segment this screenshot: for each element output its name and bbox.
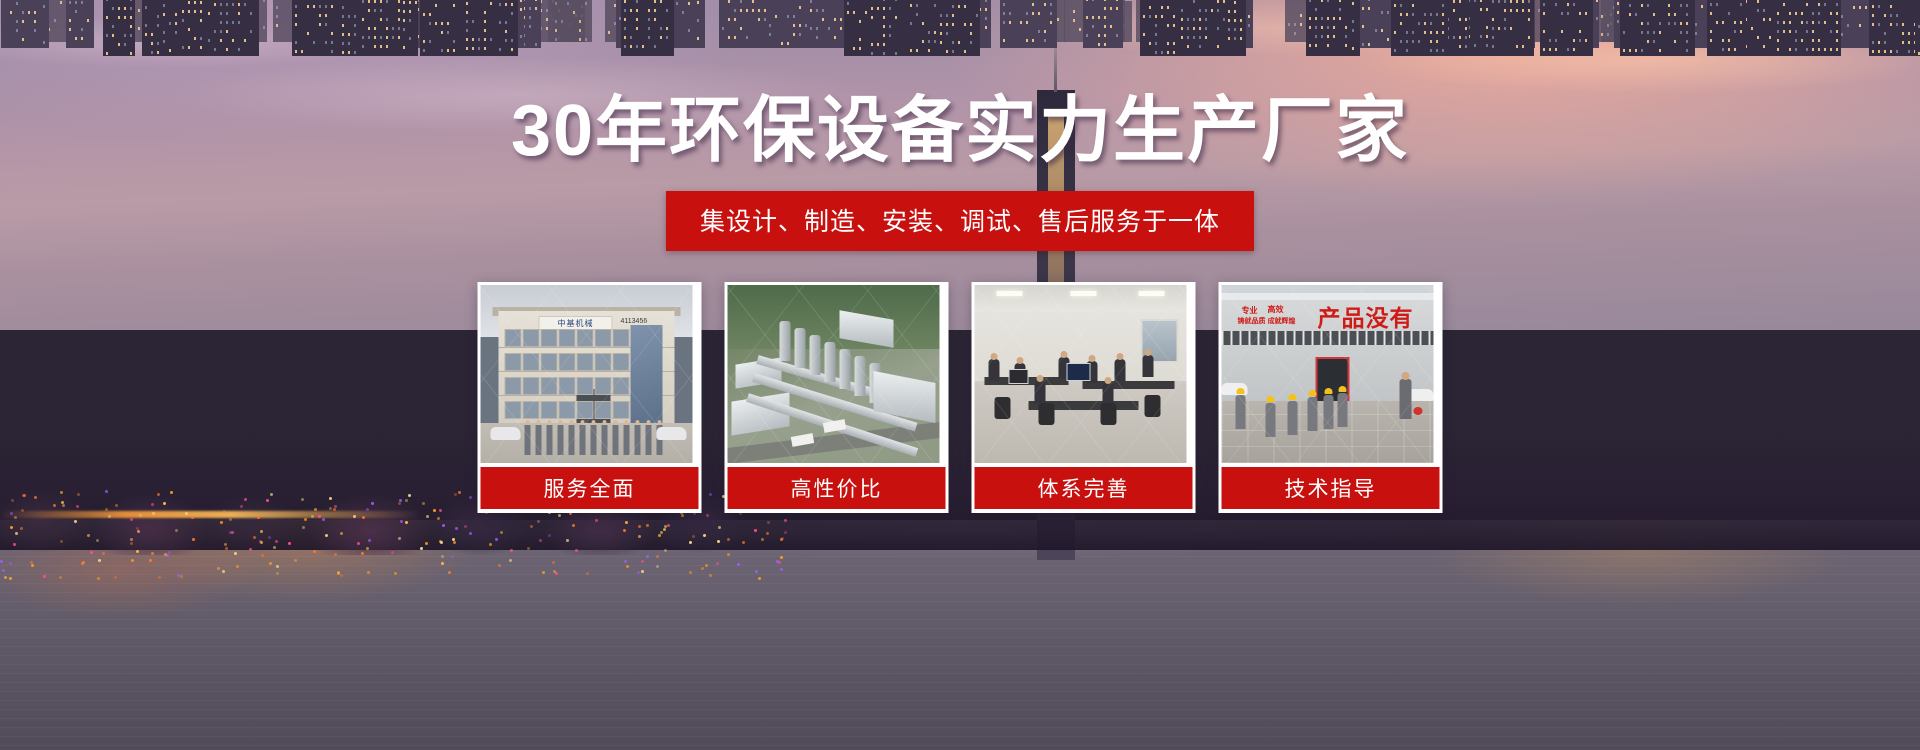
- factory-slogan-small-2: 高效: [1268, 304, 1284, 315]
- building: [66, 0, 94, 48]
- building: [552, 0, 592, 42]
- card-label: 服务全面: [481, 467, 699, 509]
- building: [1489, 0, 1533, 56]
- building: [1083, 0, 1122, 48]
- building: [937, 0, 979, 56]
- feature-card[interactable]: 中基机械 4113456 服务全面: [478, 282, 702, 513]
- building: [1178, 0, 1227, 56]
- building: [205, 0, 259, 56]
- factory-slogan-small-3: 铸就品质: [1238, 316, 1266, 326]
- building: [292, 0, 339, 56]
- building-sign-text: 中基机械: [539, 316, 613, 330]
- card-photo-plant-aerial: [728, 285, 940, 463]
- building: [1017, 0, 1057, 48]
- feature-card[interactable]: 体系完善: [972, 282, 1196, 513]
- feature-card[interactable]: 产品没有 专业 高效 铸就品质 成就辉煌 技术指导: [1219, 282, 1443, 513]
- building: [1540, 0, 1593, 56]
- subtitle-banner: 集设计、制造、安装、调试、售后服务于一体: [666, 191, 1254, 251]
- page-title: 30年环保设备实力生产厂家: [0, 95, 1920, 167]
- building: [868, 0, 903, 56]
- building: [103, 0, 135, 56]
- card-label: 体系完善: [975, 467, 1193, 509]
- building: [457, 0, 496, 56]
- feature-card[interactable]: 高性价比: [725, 282, 949, 513]
- factory-slogan-small-4: 成就辉煌: [1268, 316, 1296, 326]
- card-photo-office-building: 中基机械 4113456: [481, 285, 693, 463]
- factory-slogan-large: 产品没有: [1318, 299, 1414, 333]
- building: [1869, 0, 1920, 56]
- building: [1620, 0, 1664, 56]
- card-label: 技术指导: [1222, 467, 1440, 509]
- card-photo-office-interior: [975, 285, 1187, 463]
- building: [420, 0, 462, 56]
- building: [1803, 0, 1841, 56]
- building: [1915, 0, 1920, 56]
- building: [1707, 0, 1746, 56]
- building: [1391, 0, 1448, 56]
- hero-banner: 30年环保设备实力生产厂家 集设计、制造、安装、调试、售后服务于一体 中基机械 …: [0, 0, 1920, 750]
- building-phone-text: 4113456: [621, 318, 648, 325]
- building: [359, 0, 403, 56]
- card-label: 高性价比: [728, 467, 946, 509]
- building: [719, 0, 770, 48]
- building: [621, 0, 674, 56]
- feature-card-row: 中基机械 4113456 服务全面: [478, 282, 1443, 513]
- building: [1, 0, 41, 48]
- card-photo-factory-workers: 产品没有 专业 高效 铸就品质 成就辉煌: [1222, 285, 1434, 463]
- building: [1306, 0, 1348, 56]
- factory-slogan-small-1: 专业: [1242, 305, 1258, 316]
